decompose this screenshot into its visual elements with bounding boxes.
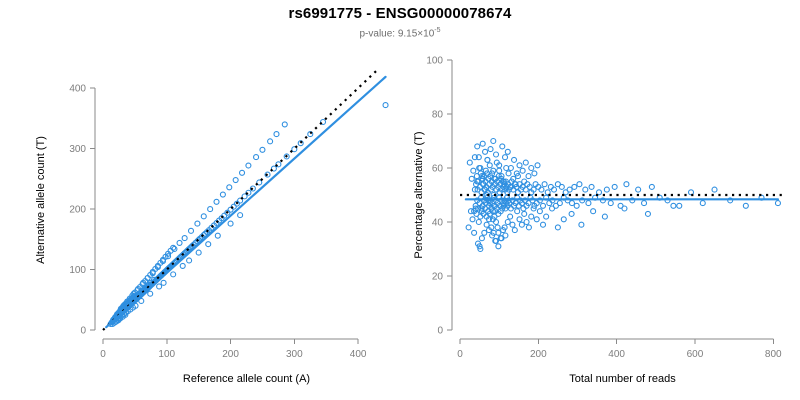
data-point [510,222,515,227]
data-point [472,230,477,235]
x-axis-label-right: Total number of reads [569,373,676,385]
data-point [557,201,562,206]
data-point [260,147,265,152]
data-point [586,201,591,206]
data-point [541,203,546,208]
x-tick-right-label: 0 [457,349,463,360]
data-point [503,155,508,160]
y-tick-right-label: 40 [432,218,444,229]
data-point [642,201,647,206]
data-point [519,222,524,227]
data-point [522,211,527,216]
y-tick-right-label: 80 [432,110,444,121]
x-tick-left-label: 200 [222,349,239,360]
panel-allele-counts: 01002003004000100200300400Reference alle… [0,0,400,400]
data-point [500,144,505,149]
data-point [574,203,579,208]
data-point [529,214,534,219]
data-point [505,149,510,154]
y-tick-right-label: 0 [437,326,443,337]
data-point [520,168,525,173]
data-point [471,168,476,173]
figure-root: rs6991775 - ENSG00000078674 p-value: 9.1… [0,0,800,400]
panel-percentage: 0204060801000200400600800Total number of… [400,0,800,400]
y-axis-label-right: Percentage alternative (T) [413,131,425,258]
scatter-plot-left: 01002003004000100200300400Reference alle… [0,0,400,400]
data-point [541,222,546,227]
y-axis-label-left: Alternative allele count (T) [35,136,47,264]
data-point [187,258,192,263]
data-point [534,217,539,222]
data-point [700,201,705,206]
data-point [157,284,162,289]
data-point [512,228,517,233]
data-point [496,244,501,249]
data-point [508,214,513,219]
data-point [544,214,549,219]
data-point [517,163,522,168]
data-point [506,171,511,176]
data-point [494,152,499,157]
x-tick-right-label: 800 [765,349,782,360]
data-point [636,187,641,192]
data-point [512,157,517,162]
data-point [577,182,582,187]
data-point [483,149,488,154]
data-point [254,155,259,160]
data-point [182,236,187,241]
regression-fit-line-left [106,77,385,327]
data-point [238,213,243,218]
data-point [180,263,185,268]
data-point [532,171,537,176]
data-point [542,182,547,187]
x-tick-right-label: 400 [608,349,625,360]
data-point [227,185,232,190]
data-point [497,168,502,173]
data-point [535,163,540,168]
data-point [622,206,627,211]
data-point [649,184,654,189]
data-point [485,157,490,162]
data-point [476,220,481,225]
x-tick-left-label: 400 [350,349,367,360]
data-point [479,236,484,241]
data-point [482,230,487,235]
data-point [561,217,566,222]
data-point [569,201,574,206]
data-point [608,201,613,206]
data-point [177,240,182,245]
scatter-points-left [108,103,388,327]
data-point [268,139,273,144]
data-point [383,103,388,108]
data-point [196,250,201,255]
data-point [550,206,555,211]
data-point [567,187,572,192]
data-point [171,272,176,277]
y-tick-right-label: 20 [432,272,444,283]
data-point [161,280,166,285]
data-point [139,298,144,303]
data-point [517,217,522,222]
y-tick-left-label: 0 [80,326,86,337]
data-point [484,222,489,227]
y-tick-right-label: 60 [432,164,444,175]
y-tick-left-label: 200 [69,205,86,216]
data-point [624,182,629,187]
data-point [228,221,233,226]
data-point [206,242,211,247]
data-point [612,184,617,189]
data-point [282,122,287,127]
data-point [189,228,194,233]
data-point [526,174,531,179]
y-tick-left-label: 400 [69,84,86,95]
data-point [274,132,279,137]
data-point [470,217,475,222]
y-tick-left-label: 100 [69,265,86,276]
data-point [589,184,594,189]
data-point [559,184,564,189]
data-point [677,203,682,208]
scatter-plot-right: 0204060801000200400600800Total number of… [400,0,800,400]
data-point [469,176,474,181]
data-point [583,187,588,192]
data-point [195,221,200,226]
x-tick-left-label: 300 [286,349,303,360]
data-point [475,144,480,149]
data-point [712,187,717,192]
data-point [529,166,534,171]
data-point [524,220,529,225]
data-point [569,211,574,216]
data-point [671,203,676,208]
data-point [480,141,485,146]
data-point [537,209,542,214]
data-point [491,139,496,144]
data-point [487,163,492,168]
data-point [503,233,508,238]
x-tick-right-label: 600 [687,349,704,360]
data-point [555,225,560,230]
data-point [233,178,238,183]
data-point [604,187,609,192]
data-point [505,220,510,225]
data-point [148,291,153,296]
data-point [495,225,500,230]
x-tick-left-label: 100 [158,349,175,360]
data-point [775,201,780,206]
data-point [467,160,472,165]
data-point [572,184,577,189]
data-point [579,222,584,227]
data-point [208,207,213,212]
data-point [645,211,650,216]
data-point [214,199,219,204]
data-point [246,163,251,168]
data-point [215,233,220,238]
x-tick-right-label: 200 [530,349,547,360]
data-point [466,225,471,230]
data-point [602,214,607,219]
data-point [743,203,748,208]
data-point [523,160,528,165]
y-tick-left-label: 300 [69,144,86,155]
data-point [488,147,493,152]
data-point [526,225,531,230]
data-point [591,209,596,214]
data-point [240,170,245,175]
data-point [515,209,520,214]
y-tick-right-label: 100 [426,56,443,67]
data-point [201,214,206,219]
x-tick-left-label: 0 [100,349,106,360]
x-axis-label-left: Reference allele count (A) [183,373,310,385]
data-point [220,192,225,197]
